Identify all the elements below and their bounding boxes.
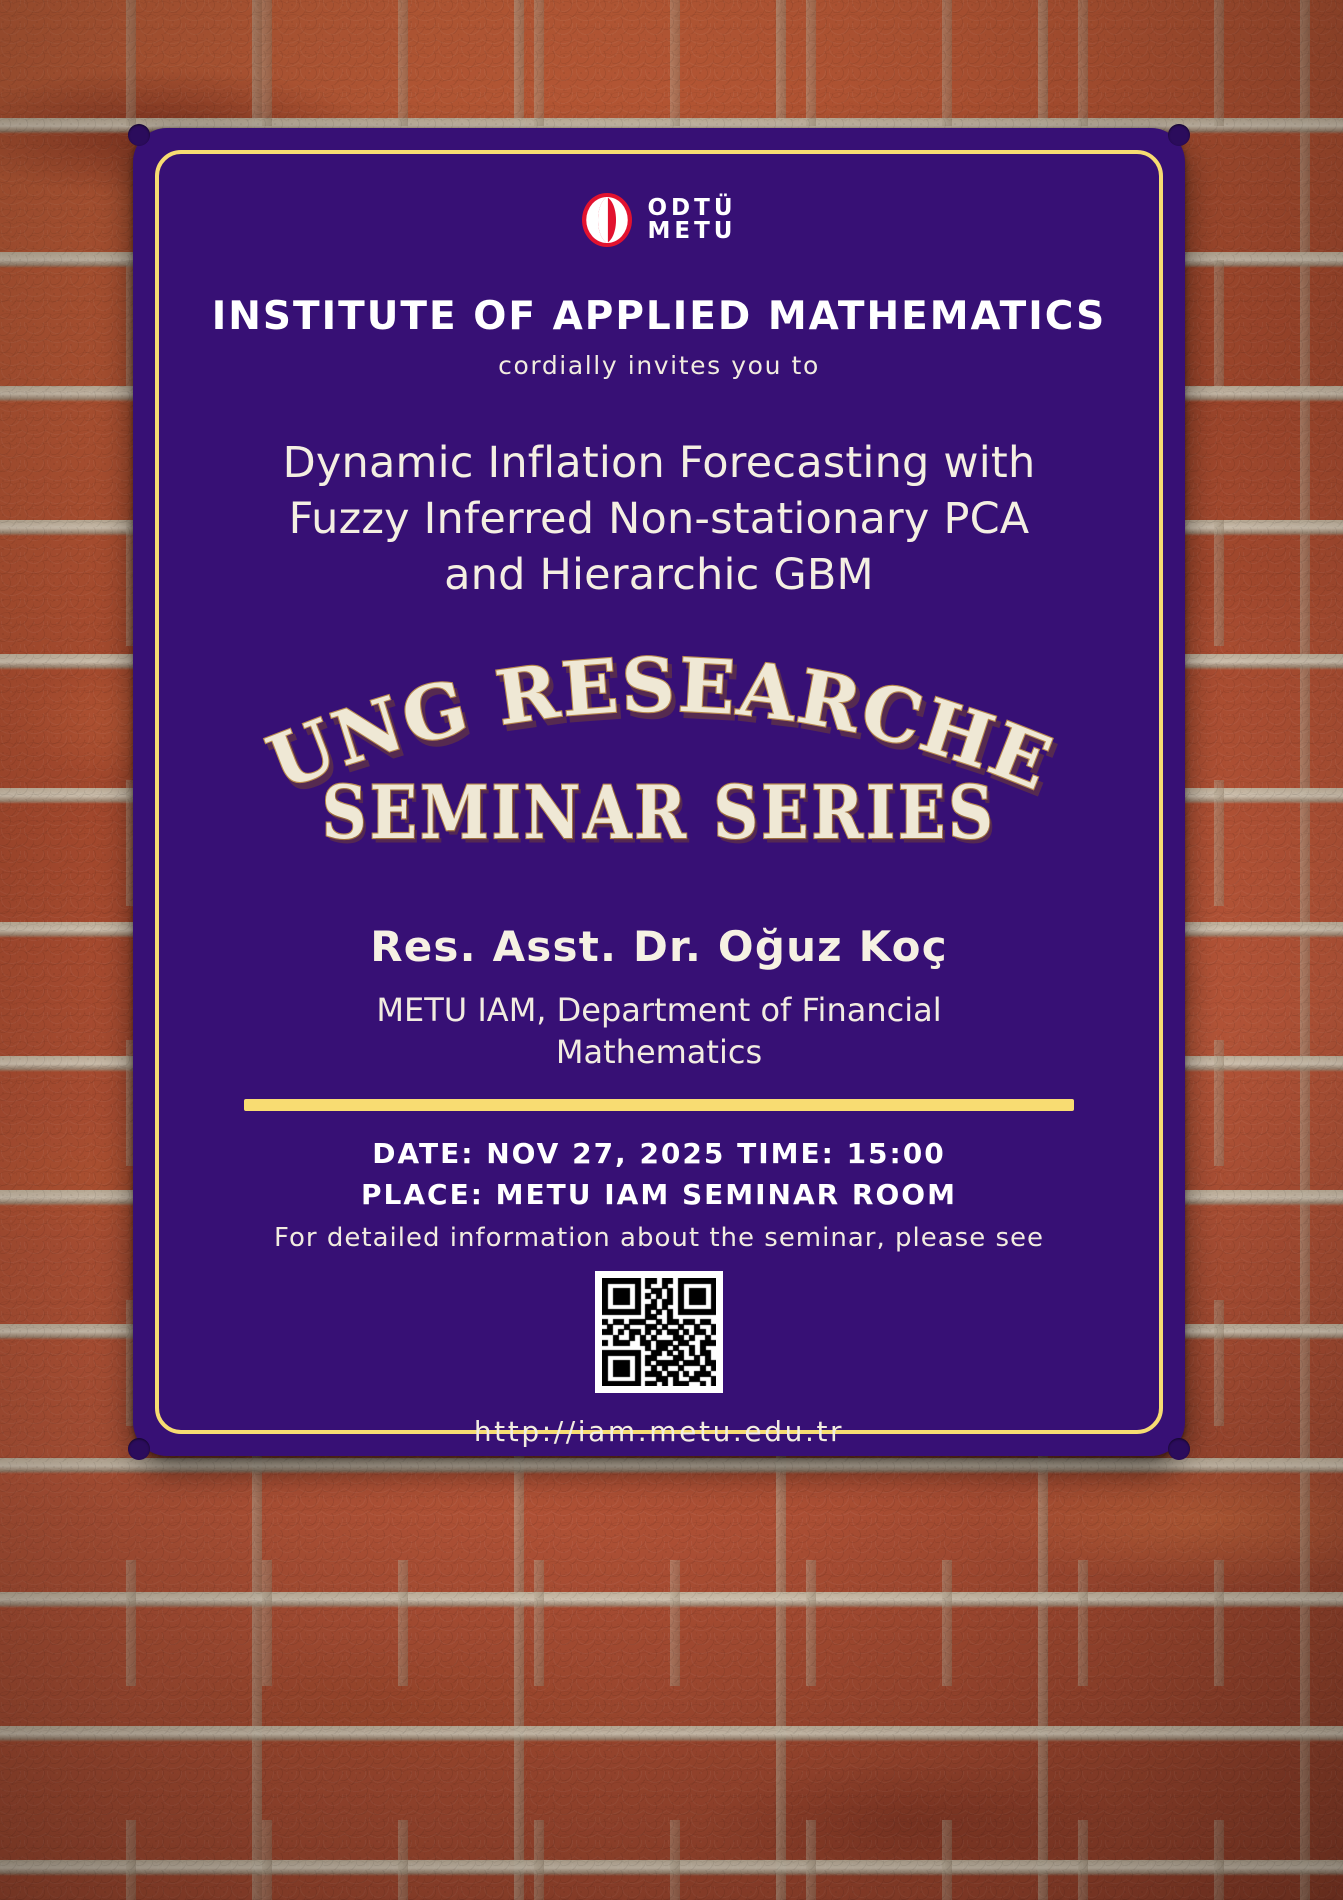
- logo-line-odtu: ODTÜ: [647, 197, 736, 220]
- seminar-title-line-1: Dynamic Inflation Forecasting with: [279, 436, 1039, 492]
- institute-name: INSTITUTE OF APPLIED MATHEMATICS: [195, 294, 1123, 339]
- metu-logo-text: ODTÜ METU: [647, 197, 736, 244]
- section-divider: [244, 1099, 1074, 1111]
- detail-place: PLACE: METU IAM SEMINAR ROOM: [195, 1178, 1123, 1211]
- metu-logo: ODTÜ METU: [195, 192, 1123, 248]
- speaker-affiliation: METU IAM, Department of Financial Mathem…: [339, 989, 979, 1073]
- poster-content: ODTÜ METU INSTITUTE OF APPLIED MATHEMATI…: [133, 128, 1185, 1456]
- logo-line-metu: METU: [647, 220, 736, 243]
- detail-info-line: For detailed information about the semin…: [195, 1223, 1123, 1253]
- metu-emblem-icon: [581, 192, 633, 248]
- seminar-poster: ODTÜ METU INSTITUTE OF APPLIED MATHEMATI…: [133, 128, 1185, 1456]
- speaker-affiliation-line-1: METU IAM, Department of Financial: [339, 989, 979, 1031]
- qr-code-canvas[interactable]: [602, 1278, 716, 1386]
- website-url[interactable]: http://iam.metu.edu.tr: [195, 1415, 1123, 1448]
- series-line-2: SEMINAR SERIES: [195, 769, 1123, 855]
- seminar-title-line-3: and Hierarchic GBM: [279, 548, 1039, 604]
- speaker-affiliation-line-2: Mathematics: [339, 1031, 979, 1073]
- seminar-title-line-2: Fuzzy Inferred Non-stationary PCA: [279, 492, 1039, 548]
- speaker-name: Res. Asst. Dr. Oğuz Koç: [195, 922, 1123, 971]
- invitation-line: cordially invites you to: [195, 351, 1123, 380]
- series-wordmark: YOUNG RESEARCHERS SEMINAR SERIES: [195, 650, 1123, 886]
- detail-date-time: DATE: NOV 27, 2025 TIME: 15:00: [195, 1137, 1123, 1170]
- seminar-title: Dynamic Inflation Forecasting with Fuzzy…: [279, 436, 1039, 604]
- qr-code[interactable]: [595, 1271, 723, 1393]
